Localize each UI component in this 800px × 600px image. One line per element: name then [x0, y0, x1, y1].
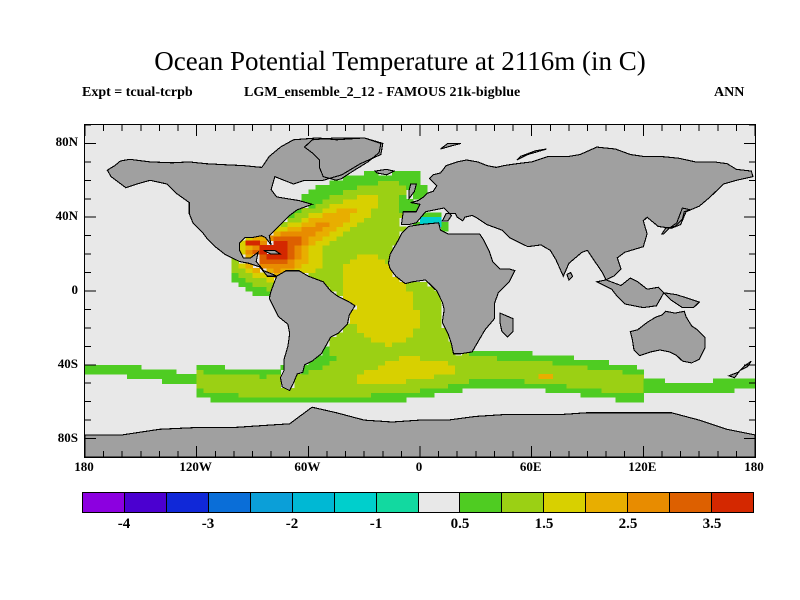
data-cell	[308, 374, 316, 379]
data-cell	[259, 282, 267, 287]
data-cell	[329, 180, 337, 185]
data-cell	[211, 365, 219, 370]
data-cell	[392, 213, 400, 218]
data-cell	[364, 203, 372, 208]
data-cell	[392, 392, 400, 397]
data-cell	[420, 286, 428, 291]
data-cell	[594, 365, 602, 370]
colorbar-segment-11[interactable]	[544, 493, 586, 512]
data-cell	[176, 374, 184, 379]
data-cell	[364, 282, 372, 287]
data-cell	[357, 180, 365, 185]
data-cell	[518, 365, 526, 370]
data-cell	[239, 379, 247, 384]
data-cell	[448, 360, 456, 365]
data-cell	[259, 240, 267, 245]
data-cell	[553, 383, 561, 388]
data-cell	[343, 217, 351, 222]
data-cell	[678, 388, 686, 393]
data-cell	[266, 392, 274, 397]
data-cell	[399, 383, 407, 388]
data-cell	[504, 356, 512, 361]
data-cell	[329, 282, 337, 287]
data-cell	[350, 259, 358, 264]
data-cell	[259, 392, 267, 397]
data-cell	[336, 259, 344, 264]
data-cell	[553, 374, 561, 379]
data-cell	[413, 392, 421, 397]
data-cell	[315, 208, 323, 213]
data-cell	[315, 194, 323, 199]
data-cell	[448, 383, 456, 388]
data-cell	[671, 383, 679, 388]
data-cell	[357, 309, 365, 314]
data-cell	[371, 254, 379, 259]
data-cell	[574, 365, 582, 370]
data-cell	[239, 392, 247, 397]
data-cell	[364, 236, 372, 241]
data-cell	[371, 388, 379, 393]
data-cell	[378, 323, 386, 328]
colorbar-segment-9[interactable]	[460, 493, 502, 512]
data-cell	[315, 213, 323, 218]
data-cell	[420, 388, 428, 393]
y-axis-tick-label: 0	[36, 283, 78, 296]
data-cell	[406, 369, 414, 374]
data-cell	[364, 199, 372, 204]
data-cell	[336, 392, 344, 397]
data-cell	[497, 369, 505, 374]
data-cell	[364, 208, 372, 213]
data-cell	[371, 203, 379, 208]
data-cell	[727, 388, 735, 393]
y-axis-labels: 80N40N040S80S	[0, 0, 78, 600]
data-cell	[420, 333, 428, 338]
data-cell	[280, 263, 288, 268]
data-cell	[518, 351, 526, 356]
data-cell	[378, 203, 386, 208]
data-cell	[434, 328, 442, 333]
colorbar-segment-8[interactable]	[419, 493, 461, 512]
data-cell	[350, 236, 358, 241]
data-cell	[671, 388, 679, 393]
data-cell	[434, 356, 442, 361]
data-cell	[294, 231, 302, 236]
data-cell	[315, 217, 323, 222]
data-cell	[364, 356, 372, 361]
data-cell	[448, 374, 456, 379]
data-cell	[301, 254, 309, 259]
data-cell	[315, 203, 323, 208]
colorbar-segment-10[interactable]	[502, 493, 544, 512]
data-cell	[357, 383, 365, 388]
data-cell	[218, 374, 226, 379]
colorbar-segment-3[interactable]	[209, 493, 251, 512]
data-cell	[413, 369, 421, 374]
data-cell	[434, 365, 442, 370]
data-cell	[253, 277, 261, 282]
data-cell	[350, 323, 358, 328]
data-cell	[343, 273, 351, 278]
data-cell	[287, 222, 295, 227]
data-cell	[343, 282, 351, 287]
data-cell	[308, 240, 316, 245]
data-cell	[713, 379, 721, 384]
data-cell	[329, 356, 337, 361]
data-cell	[301, 259, 309, 264]
data-cell	[427, 328, 435, 333]
data-cell	[322, 254, 330, 259]
data-cell	[357, 360, 365, 365]
data-cell	[155, 374, 163, 379]
data-cell	[225, 388, 233, 393]
data-cell	[280, 250, 288, 255]
data-cell	[420, 185, 428, 190]
data-cell	[350, 194, 358, 199]
data-cell	[427, 360, 435, 365]
data-cell	[399, 392, 407, 397]
data-cell	[336, 360, 344, 365]
data-cell	[315, 254, 323, 259]
data-cell	[427, 291, 435, 296]
data-cell	[253, 388, 261, 393]
data-cell	[329, 259, 337, 264]
data-cell	[148, 374, 156, 379]
data-cell	[385, 190, 393, 195]
data-cell	[322, 379, 330, 384]
data-cell	[455, 383, 463, 388]
data-cell	[574, 369, 582, 374]
data-cell	[434, 323, 442, 328]
data-cell	[322, 250, 330, 255]
data-cell	[560, 388, 568, 393]
colorbar-segment-6[interactable]	[335, 493, 377, 512]
data-cell	[657, 388, 665, 393]
data-cell	[385, 369, 393, 374]
data-cell	[378, 346, 386, 351]
data-cell	[483, 365, 491, 370]
data-cell	[588, 365, 596, 370]
data-cell	[622, 397, 630, 402]
data-cell	[525, 356, 533, 361]
data-cell	[399, 314, 407, 319]
data-cell	[301, 374, 309, 379]
data-cell	[434, 369, 442, 374]
data-cell	[357, 190, 365, 195]
data-cell	[455, 356, 463, 361]
data-cell	[371, 268, 379, 273]
data-cell	[336, 213, 344, 218]
data-cell	[546, 379, 554, 384]
data-cell	[364, 360, 372, 365]
data-cell	[294, 397, 302, 402]
data-cell	[560, 374, 568, 379]
data-cell	[469, 374, 477, 379]
data-cell	[378, 374, 386, 379]
data-cell	[287, 250, 295, 255]
data-cell	[427, 213, 435, 218]
data-cell	[329, 254, 337, 259]
data-cell	[127, 374, 135, 379]
data-cell	[406, 333, 414, 338]
data-cell	[371, 185, 379, 190]
y-axis-tick-label: 80S	[36, 431, 78, 444]
data-cell	[308, 369, 316, 374]
data-cell	[350, 374, 358, 379]
colorbar-segment-14[interactable]	[670, 493, 712, 512]
data-cell	[371, 190, 379, 195]
data-cell	[378, 236, 386, 241]
colorbar-segment-7[interactable]	[377, 493, 419, 512]
data-cell	[685, 383, 693, 388]
data-cell	[350, 203, 358, 208]
data-cell	[273, 245, 281, 250]
data-cell	[287, 392, 295, 397]
data-cell	[441, 388, 449, 393]
data-cell	[546, 360, 554, 365]
data-cell	[720, 383, 728, 388]
data-cell	[427, 342, 435, 347]
data-cell	[567, 379, 575, 384]
colorbar-tick-label: 2.5	[593, 516, 663, 533]
season-label: ANN	[714, 85, 744, 101]
data-cell	[601, 360, 609, 365]
colorbar-segment-1[interactable]	[125, 493, 167, 512]
data-cell	[420, 374, 428, 379]
data-cell	[385, 213, 393, 218]
data-cell	[385, 286, 393, 291]
data-cell	[364, 240, 372, 245]
data-cell	[594, 374, 602, 379]
data-cell	[399, 185, 407, 190]
data-cell	[378, 190, 386, 195]
data-cell	[574, 360, 582, 365]
data-cell	[350, 250, 358, 255]
data-cell	[301, 379, 309, 384]
data-cell	[469, 369, 477, 374]
data-cell	[427, 374, 435, 379]
data-cell	[336, 282, 344, 287]
data-cell	[720, 388, 728, 393]
data-cell	[343, 222, 351, 227]
data-cell	[378, 254, 386, 259]
data-cell	[273, 392, 281, 397]
data-cell	[336, 240, 344, 245]
colorbar-segment-12[interactable]	[586, 493, 628, 512]
data-cell	[546, 383, 554, 388]
data-cell	[678, 383, 686, 388]
data-cell	[371, 282, 379, 287]
data-cell	[588, 379, 596, 384]
data-cell	[308, 397, 316, 402]
data-cell	[350, 383, 358, 388]
data-cell	[636, 392, 644, 397]
data-cell	[371, 369, 379, 374]
data-cell	[546, 369, 554, 374]
data-cell	[629, 374, 637, 379]
data-cell	[336, 231, 344, 236]
data-cell	[629, 365, 637, 370]
colorbar-segment-13[interactable]	[628, 493, 670, 512]
data-cell	[197, 392, 205, 397]
data-cell	[336, 194, 344, 199]
data-cell	[434, 383, 442, 388]
data-cell	[99, 365, 107, 370]
data-cell	[448, 365, 456, 370]
data-cell	[378, 296, 386, 301]
data-cell	[378, 337, 386, 342]
data-cell	[357, 296, 365, 301]
data-cell	[385, 199, 393, 204]
data-cell	[441, 374, 449, 379]
data-cell	[343, 190, 351, 195]
x-axis-tick-label: 120W	[166, 460, 226, 474]
data-cell	[392, 383, 400, 388]
data-cell	[741, 379, 749, 384]
data-cell	[273, 397, 281, 402]
data-cell	[350, 360, 358, 365]
data-cell	[308, 254, 316, 259]
data-cell	[364, 190, 372, 195]
data-cell	[329, 342, 337, 347]
data-cell	[553, 360, 561, 365]
data-cell	[371, 291, 379, 296]
data-cell	[546, 388, 554, 393]
data-cell	[239, 277, 247, 282]
data-cell	[253, 369, 261, 374]
data-cell	[650, 379, 658, 384]
data-cell	[350, 245, 358, 250]
data-cell	[357, 250, 365, 255]
data-cell	[406, 346, 414, 351]
data-cell	[218, 383, 226, 388]
data-cell	[371, 286, 379, 291]
data-cell	[371, 213, 379, 218]
data-cell	[211, 392, 219, 397]
data-cell	[427, 300, 435, 305]
data-cell	[427, 351, 435, 356]
data-cell	[343, 351, 351, 356]
data-cell	[581, 383, 589, 388]
data-cell	[371, 199, 379, 204]
data-cell	[392, 388, 400, 393]
data-cell	[581, 379, 589, 384]
data-cell	[378, 342, 386, 347]
data-cell	[308, 194, 316, 199]
colorbar-segment-5[interactable]	[293, 493, 335, 512]
data-cell	[287, 240, 295, 245]
data-cell	[308, 222, 316, 227]
data-cell	[399, 190, 407, 195]
data-cell	[350, 254, 358, 259]
data-cell	[469, 365, 477, 370]
data-cell	[643, 383, 651, 388]
data-cell	[211, 369, 219, 374]
data-cell	[280, 240, 288, 245]
data-cell	[601, 383, 609, 388]
colorbar[interactable]	[82, 492, 754, 513]
data-cell	[322, 213, 330, 218]
data-cell	[615, 374, 623, 379]
data-cell	[343, 337, 351, 342]
data-cell	[371, 356, 379, 361]
data-cell	[253, 392, 261, 397]
colorbar-segment-15[interactable]	[712, 493, 753, 512]
data-cell	[371, 217, 379, 222]
data-cell	[608, 374, 616, 379]
data-cell	[329, 194, 337, 199]
colorbar-segment-2[interactable]	[167, 493, 209, 512]
data-cell	[364, 213, 372, 218]
data-cell	[378, 194, 386, 199]
data-cell	[594, 388, 602, 393]
data-cell	[650, 383, 658, 388]
data-cell	[434, 337, 442, 342]
data-cell	[434, 342, 442, 347]
data-cell	[420, 282, 428, 287]
data-cell	[322, 231, 330, 236]
data-cell	[420, 360, 428, 365]
run-label: LGM_ensemble_2_12 - FAMOUS 21k-bigblue	[244, 85, 520, 101]
data-cell	[476, 379, 484, 384]
data-cell	[434, 374, 442, 379]
data-cell	[329, 236, 337, 241]
data-cell	[664, 388, 672, 393]
data-cell	[504, 351, 512, 356]
data-cell	[518, 360, 526, 365]
data-cell	[357, 286, 365, 291]
data-cell	[413, 360, 421, 365]
data-cell	[315, 185, 323, 190]
data-cell	[406, 374, 414, 379]
data-cell	[385, 379, 393, 384]
data-cell	[343, 369, 351, 374]
data-cell	[392, 342, 400, 347]
data-cell	[427, 392, 435, 397]
data-cell	[385, 333, 393, 338]
data-cell	[378, 300, 386, 305]
data-cell	[357, 263, 365, 268]
data-cell	[532, 374, 540, 379]
data-cell	[322, 383, 330, 388]
data-cell	[315, 259, 323, 264]
data-cell	[420, 328, 428, 333]
data-cell	[567, 360, 575, 365]
data-cell	[399, 309, 407, 314]
data-cell	[385, 356, 393, 361]
data-cell	[378, 286, 386, 291]
colorbar-segment-4[interactable]	[251, 493, 293, 512]
data-cell	[504, 374, 512, 379]
data-cell	[636, 388, 644, 393]
data-cell	[601, 374, 609, 379]
data-cell	[294, 226, 302, 231]
data-cell	[239, 282, 247, 287]
data-cell	[406, 305, 414, 310]
data-cell	[308, 388, 316, 393]
data-cell	[280, 392, 288, 397]
data-cell	[441, 383, 449, 388]
data-cell	[497, 351, 505, 356]
data-cell	[336, 268, 344, 273]
data-cell	[378, 245, 386, 250]
colorbar-segment-0[interactable]	[83, 493, 125, 512]
data-cell	[713, 383, 721, 388]
data-cell	[413, 333, 421, 338]
data-cell	[322, 199, 330, 204]
data-cell	[364, 392, 372, 397]
data-cell	[504, 383, 512, 388]
